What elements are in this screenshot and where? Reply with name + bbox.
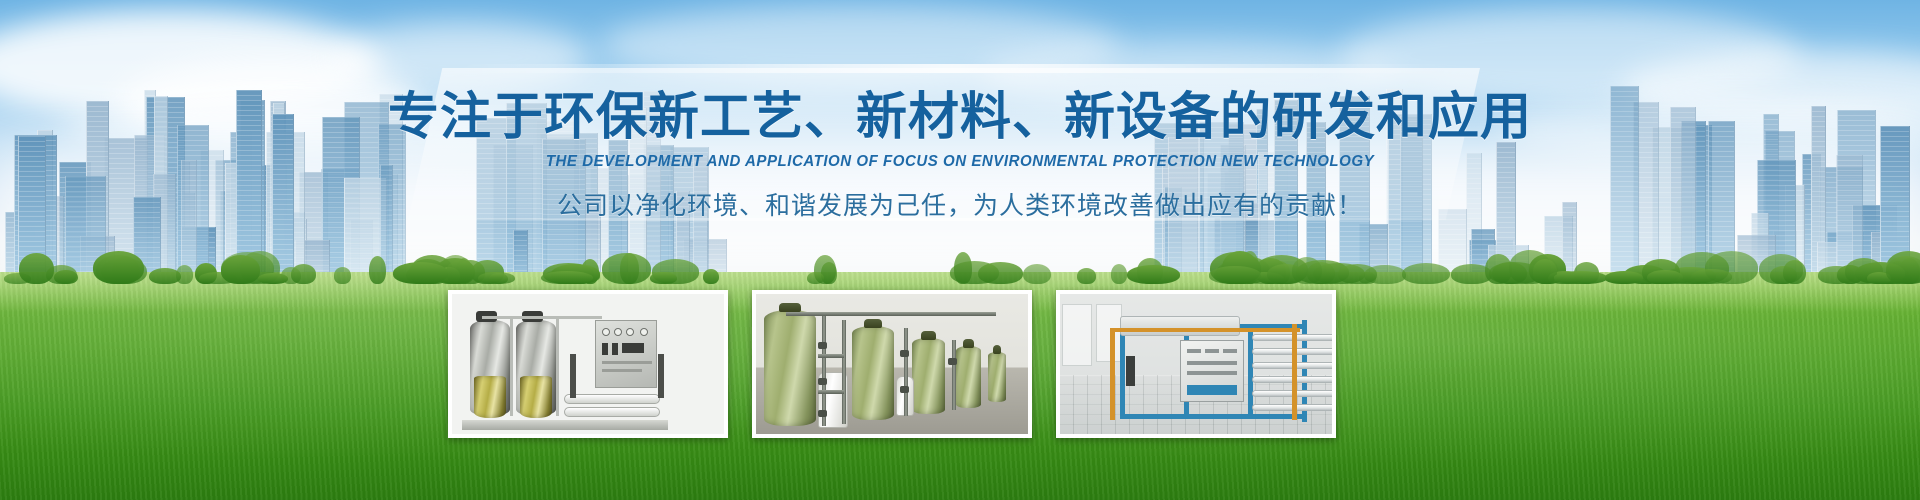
frp-filter-vessel bbox=[764, 310, 816, 426]
shrub bbox=[1127, 265, 1180, 284]
ro-membrane-housing bbox=[564, 394, 660, 404]
indicator-row bbox=[1205, 349, 1219, 353]
photo-frp-vessel-array[interactable] bbox=[752, 290, 1032, 438]
yellow-pipe bbox=[1110, 328, 1115, 420]
pressure-gauge bbox=[614, 328, 622, 336]
window-panel bbox=[1096, 304, 1122, 362]
indicator-row bbox=[1187, 349, 1201, 353]
shrub bbox=[954, 252, 972, 284]
riser-pipe bbox=[556, 316, 559, 416]
toggle-switch bbox=[612, 343, 618, 355]
vertical-pipe bbox=[904, 328, 908, 416]
indicator-row bbox=[1187, 371, 1237, 375]
yellow-header-pipe bbox=[1110, 328, 1300, 332]
top-manifold-pipe bbox=[482, 316, 602, 319]
valve bbox=[900, 350, 909, 357]
panel-top-stripe bbox=[452, 64, 1452, 73]
banner-headline: 专注于环保新工艺、新材料、新设备的研发和应用 bbox=[0, 88, 1920, 145]
frp-filter-vessel bbox=[912, 338, 945, 414]
shrub bbox=[19, 253, 54, 284]
resin-tank bbox=[520, 376, 552, 418]
shrub bbox=[221, 255, 260, 284]
shrub bbox=[489, 273, 508, 284]
indicator-row bbox=[1187, 361, 1237, 365]
shrub bbox=[1554, 271, 1607, 284]
rack-post bbox=[1120, 324, 1125, 419]
shrub bbox=[978, 262, 1023, 284]
pressure-gauge bbox=[626, 328, 634, 336]
shrub bbox=[1209, 266, 1261, 284]
indicator-row bbox=[1223, 349, 1237, 353]
banner-subheadline: THE DEVELOPMENT AND APPLICATION OF FOCUS… bbox=[29, 153, 1891, 171]
shrub bbox=[334, 267, 351, 284]
high-pressure-pump bbox=[658, 354, 664, 398]
branch-pipe bbox=[818, 354, 844, 358]
vessel-cap bbox=[779, 303, 802, 312]
ro-membrane-housing bbox=[564, 407, 660, 417]
control-cabinet bbox=[595, 320, 657, 388]
resin-tank bbox=[474, 376, 506, 418]
shrub bbox=[1402, 263, 1450, 284]
pressure-gauge bbox=[602, 328, 610, 336]
shrub bbox=[1605, 271, 1643, 284]
product-photo-strip bbox=[448, 290, 1336, 438]
shrub bbox=[650, 272, 677, 284]
frp-filter-vessel bbox=[852, 326, 894, 420]
photo-scene bbox=[1060, 294, 1332, 434]
shrub bbox=[703, 269, 719, 284]
photo-industrial-ro-plant[interactable] bbox=[1056, 290, 1336, 438]
shrub bbox=[541, 271, 593, 284]
banner-copy: 专注于环保新工艺、新材料、新设备的研发和应用 THE DEVELOPMENT A… bbox=[0, 88, 1920, 222]
shrub bbox=[1077, 268, 1096, 284]
vessel-cap bbox=[864, 319, 882, 328]
valve bbox=[948, 358, 957, 365]
shrub bbox=[602, 253, 651, 284]
valve bbox=[900, 386, 909, 393]
treeline bbox=[0, 232, 1920, 284]
vertical-pipe bbox=[822, 312, 826, 426]
yellow-pipe bbox=[1292, 324, 1297, 420]
rack-frame-bottom bbox=[1120, 414, 1306, 419]
shrub bbox=[1111, 264, 1127, 284]
vessel-cap bbox=[921, 331, 936, 340]
shrub bbox=[1886, 256, 1920, 284]
toggle-switch bbox=[602, 343, 608, 355]
window-panel bbox=[1062, 304, 1092, 366]
pressure-gauge bbox=[640, 328, 648, 336]
high-pressure-pump bbox=[570, 354, 576, 398]
vertical-pipe bbox=[952, 340, 956, 410]
shrub bbox=[176, 265, 193, 284]
shrub bbox=[1783, 260, 1806, 284]
banner-tagline: 公司以净化环境、和谐发展为己任，为人类环境改善做出应有的贡献！ bbox=[0, 186, 1920, 222]
vessel-cap bbox=[993, 345, 1001, 354]
photo-scene bbox=[452, 294, 724, 434]
control-panel bbox=[1180, 340, 1244, 402]
duct-run bbox=[1120, 316, 1240, 336]
branch-pipe bbox=[818, 390, 844, 394]
shrub bbox=[1691, 269, 1732, 284]
frp-filter-vessel bbox=[956, 346, 981, 408]
shrub bbox=[446, 260, 475, 284]
skid-base bbox=[462, 420, 668, 430]
valve bbox=[818, 410, 827, 417]
hero-banner: 专注于环保新工艺、新材料、新设备的研发和应用 THE DEVELOPMENT A… bbox=[0, 0, 1920, 500]
vessel-cap bbox=[963, 339, 974, 348]
shrub bbox=[258, 273, 288, 284]
shrub bbox=[1485, 254, 1512, 284]
vertical-pipe bbox=[842, 320, 846, 424]
shrub bbox=[393, 262, 448, 284]
shrub bbox=[1338, 264, 1377, 284]
valve bbox=[818, 342, 827, 349]
header-pipe bbox=[786, 312, 996, 316]
frp-filter-vessel bbox=[988, 352, 1006, 402]
display-bar bbox=[1187, 385, 1237, 395]
feed-pump bbox=[1126, 356, 1135, 386]
valve bbox=[818, 378, 827, 385]
label-strip bbox=[602, 361, 652, 364]
photo-scene bbox=[756, 294, 1028, 434]
shrub bbox=[807, 272, 824, 284]
digital-display bbox=[622, 343, 644, 353]
label-strip bbox=[602, 369, 642, 372]
shrub bbox=[93, 251, 144, 284]
shrub bbox=[369, 256, 386, 284]
photo-stainless-ro-skid[interactable] bbox=[448, 290, 728, 438]
riser-pipe bbox=[510, 316, 513, 416]
shrub bbox=[1647, 270, 1683, 284]
shrub bbox=[1292, 257, 1322, 284]
shrub bbox=[1533, 259, 1557, 284]
shrub bbox=[1023, 264, 1051, 284]
